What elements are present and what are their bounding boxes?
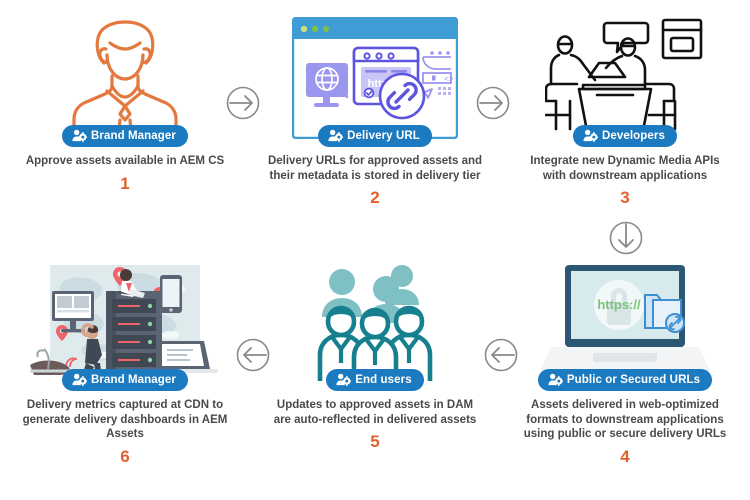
- step-1-badge-label: Brand Manager: [91, 130, 176, 142]
- step-3-artwork: [530, 14, 720, 139]
- step-5-number: 5: [370, 433, 379, 450]
- step-4-public-secured-urls[interactable]: https://: [500, 258, 750, 465]
- step-2-delivery-url[interactable]: https:// <>: [250, 14, 500, 206]
- step-1-badge[interactable]: Brand Manager: [62, 125, 188, 147]
- step-1-description: Approve assets available in AEM CS: [18, 154, 233, 169]
- step-2-number: 2: [370, 189, 379, 206]
- step-1-number: 1: [120, 175, 129, 192]
- step-4-description: Assets delivered in web-optimized format…: [518, 398, 733, 442]
- users-gear-icon: [583, 129, 598, 142]
- arrow-right-circle-icon: [473, 83, 513, 123]
- step-2-badge[interactable]: Delivery URL: [318, 125, 432, 147]
- connector-step3-to-step4: [606, 218, 646, 258]
- step-4-number: 4: [620, 448, 629, 465]
- developers-desk-icon: [545, 15, 705, 139]
- step-6-brand-manager-cdn[interactable]: Brand Manager Delivery metrics captured …: [0, 258, 250, 465]
- cdn-server-world-icon: [30, 259, 220, 383]
- step-2-description: Delivery URLs for approved assets and th…: [268, 154, 483, 183]
- step-4-badge-label: Public or Secured URLs: [567, 374, 700, 386]
- code-brackets-text: <>: [444, 76, 454, 85]
- laptop-https-lock-icon: https://: [541, 261, 709, 383]
- step-3-badge-label: Developers: [602, 130, 665, 142]
- step-3-badge[interactable]: Developers: [573, 125, 677, 147]
- users-gear-icon: [548, 373, 563, 386]
- step-6-number: 6: [120, 448, 129, 465]
- step-6-badge-label: Brand Manager: [91, 374, 176, 386]
- users-gear-icon: [72, 129, 87, 142]
- step-5-description: Updates to approved assets in DAM are au…: [268, 398, 483, 427]
- arrow-down-circle-icon: [606, 218, 646, 258]
- laptop-https-text: https://: [597, 297, 641, 312]
- step-4-artwork: https://: [530, 258, 720, 383]
- step-2-badge-label: Delivery URL: [347, 130, 420, 142]
- step-5-badge[interactable]: End users: [326, 369, 424, 391]
- step-5-artwork: [280, 258, 470, 383]
- connector-step4-to-step5: [481, 335, 521, 375]
- step-3-description: Integrate new Dynamic Media APIs with do…: [518, 154, 733, 183]
- step-6-artwork: [30, 258, 220, 383]
- step-6-description: Delivery metrics captured at CDN to gene…: [18, 398, 233, 442]
- arrow-left-circle-icon: [233, 335, 273, 375]
- users-gear-icon: [336, 373, 351, 386]
- step-4-badge[interactable]: Public or Secured URLs: [538, 369, 712, 391]
- connector-step5-to-step6: [233, 335, 273, 375]
- step-1-artwork: [30, 14, 220, 139]
- connector-step2-to-step3: [473, 83, 513, 123]
- browser-delivery-url-icon: https:// <>: [292, 17, 458, 139]
- step-3-number: 3: [620, 189, 629, 206]
- step-3-developers[interactable]: Developers Integrate new Dynamic Media A…: [500, 14, 750, 206]
- step-5-badge-label: End users: [355, 374, 412, 386]
- users-gear-icon: [72, 373, 87, 386]
- users-gear-icon: [328, 129, 343, 142]
- end-users-group-icon: [314, 265, 436, 383]
- brand-manager-person-icon: [66, 19, 184, 139]
- step-5-end-users[interactable]: End users Updates to approved assets in …: [250, 258, 500, 450]
- connector-step1-to-step2: [223, 83, 263, 123]
- arrow-left-circle-icon: [481, 335, 521, 375]
- workflow-diagram: Brand Manager Approve assets available i…: [0, 0, 750, 500]
- step-6-badge[interactable]: Brand Manager: [62, 369, 188, 391]
- step-2-artwork: https:// <>: [280, 14, 470, 139]
- step-1-brand-manager[interactable]: Brand Manager Approve assets available i…: [0, 14, 250, 192]
- arrow-right-circle-icon: [223, 83, 263, 123]
